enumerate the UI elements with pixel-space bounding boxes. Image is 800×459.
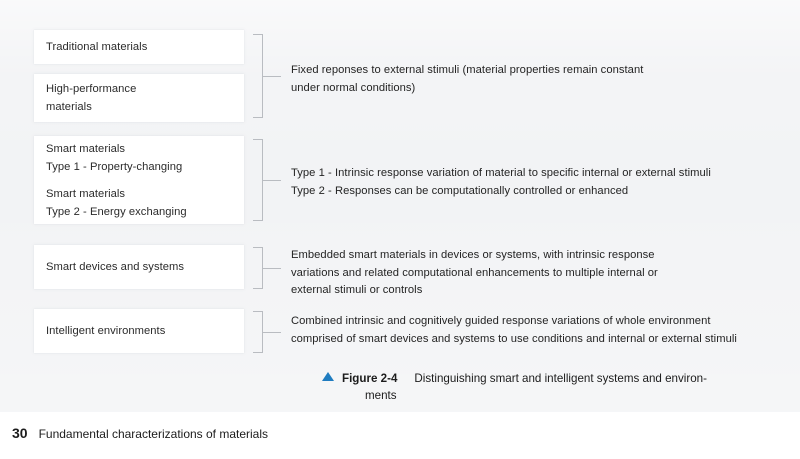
bracket-stem	[263, 180, 281, 181]
description-line: Fixed reponses to external stimuli (mate…	[291, 62, 643, 80]
bracket-stem	[263, 332, 281, 333]
figure-caption: Figure 2-4 Distinguishing smart and inte…	[322, 371, 782, 404]
running-head: Fundamental characterizations of materia…	[39, 427, 268, 441]
triangle-up-icon	[322, 372, 334, 381]
label-box-traditional-materials: Traditional materials	[34, 30, 244, 64]
label-line: Type 1 - Property-changing	[46, 158, 232, 176]
bracket-tick-bottom	[253, 117, 263, 118]
bracket-tick-bottom	[253, 352, 263, 353]
description-smart-materials: Type 1 - Intrinsic response variation of…	[291, 165, 711, 200]
bracket-stem	[263, 76, 281, 77]
label-line: High-performance	[46, 80, 232, 98]
label-line: Smart materials	[46, 185, 232, 203]
description-smart-devices-and-systems: Embedded smart materials in devices or s…	[291, 247, 658, 300]
figure-caption-text-continued: ments	[365, 388, 782, 405]
figure-diagram: Traditional materials High-performance m…	[0, 0, 800, 370]
label-line: Smart materials	[46, 140, 232, 158]
description-fixed-response: Fixed reponses to external stimuli (mate…	[291, 62, 643, 97]
bracket-stem	[263, 268, 281, 269]
page-number: 30	[12, 425, 28, 441]
description-line: Embedded smart materials in devices or s…	[291, 247, 658, 265]
label-line: Smart devices and systems	[46, 258, 232, 276]
description-line: Combined intrinsic and cognitively guide…	[291, 313, 737, 331]
label-box-intelligent-environments: Intelligent environments	[34, 309, 244, 353]
label-box-high-performance-materials: High-performance materials	[34, 74, 244, 122]
page-footer: 30 Fundamental characterizations of mate…	[12, 425, 268, 441]
description-line: under normal conditions)	[291, 80, 643, 98]
description-line: variations and related computational enh…	[291, 265, 658, 283]
figure-caption-text: Distinguishing smart and intelligent sys…	[414, 371, 707, 388]
bracket-tick-bottom	[253, 288, 263, 289]
description-line: Type 1 - Intrinsic response variation of…	[291, 165, 711, 183]
label-box-smart-devices-and-systems: Smart devices and systems	[34, 245, 244, 289]
label-box-smart-materials: Smart materials Type 1 - Property-changi…	[34, 136, 244, 224]
book-page: Traditional materials High-performance m…	[0, 0, 800, 459]
label-line: Traditional materials	[46, 38, 232, 56]
description-line: comprised of smart devices and systems t…	[291, 331, 737, 349]
label-line: Intelligent environments	[46, 322, 232, 340]
label-line: materials	[46, 98, 232, 116]
description-intelligent-environments: Combined intrinsic and cognitively guide…	[291, 313, 737, 348]
bracket-tick-bottom	[253, 220, 263, 221]
description-line: Type 2 - Responses can be computationall…	[291, 183, 711, 201]
description-line: external stimuli or controls	[291, 282, 658, 300]
figure-number: Figure 2-4	[342, 371, 397, 388]
label-line: Type 2 - Energy exchanging	[46, 203, 232, 221]
